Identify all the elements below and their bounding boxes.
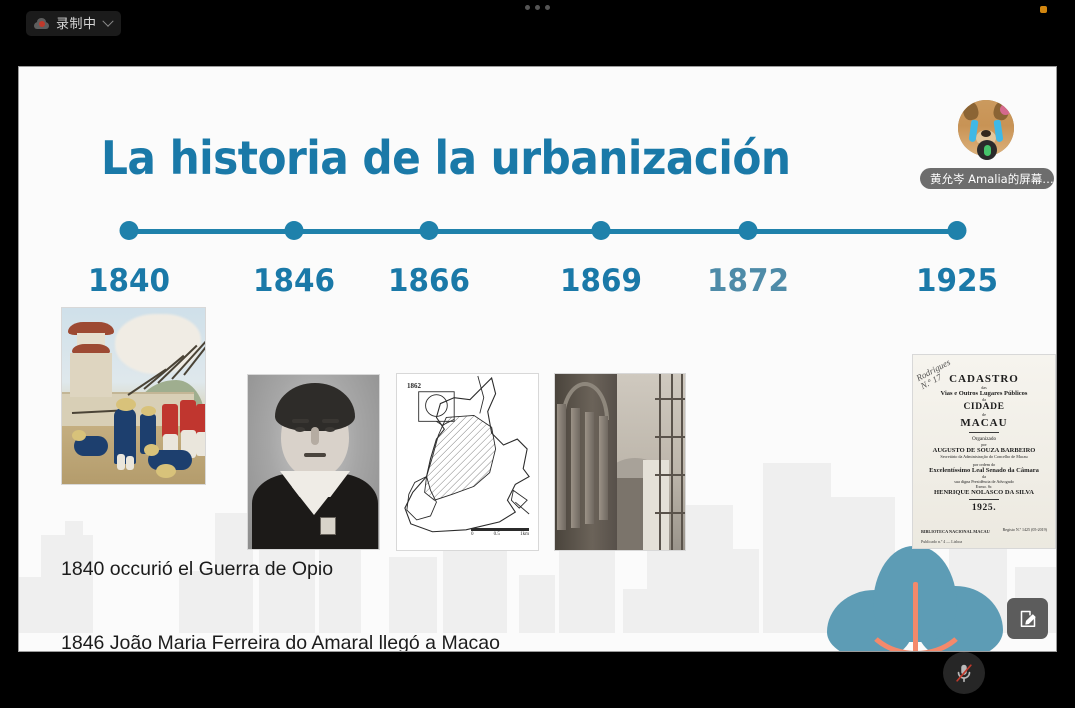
slide-canvas: La historia de la urbanización 1840 1846… bbox=[19, 67, 1056, 651]
doc-president: HENRIQUE NOLASCO DA SILVA bbox=[923, 489, 1045, 496]
timeline bbox=[111, 221, 979, 241]
timeline-dot-1925[interactable] bbox=[948, 221, 967, 240]
doc-library-stamp: BIBLIOTECA NACIONAL MACAU bbox=[921, 529, 990, 534]
shared-screen-slide[interactable]: La historia de la urbanización 1840 1846… bbox=[18, 66, 1057, 652]
page-title: La historia de la urbanización bbox=[101, 131, 790, 185]
more-options-icon[interactable] bbox=[525, 5, 550, 10]
status-dot bbox=[1040, 6, 1047, 13]
doc-city-word: CIDADE bbox=[923, 402, 1045, 412]
doc-year: 1925. bbox=[923, 503, 1045, 513]
body-line-1840: 1840 occurió el Guerra de Opio bbox=[61, 557, 709, 582]
pen-icon bbox=[1018, 609, 1038, 629]
annotate-button[interactable] bbox=[1007, 598, 1048, 639]
microphone-active-icon bbox=[977, 140, 997, 160]
participant-name-label: 黄允岑 Amalia的屏幕… bbox=[920, 168, 1054, 189]
slide-body-text: 1840 occurió el Guerra de Opio 1846 João… bbox=[61, 508, 709, 652]
timeline-dot-1846[interactable] bbox=[285, 221, 304, 240]
recording-indicator[interactable]: 录制中 bbox=[26, 11, 121, 36]
conference-app-root: 录制中 bbox=[0, 0, 1075, 708]
doc-senate: Excelentíssimo Leal Senado da Câmara bbox=[923, 467, 1045, 474]
participant-tile[interactable]: 黄允岑 Amalia的屏幕… bbox=[914, 96, 1060, 192]
timeline-year-1872: 1872 bbox=[707, 263, 789, 299]
opium-war-painting bbox=[61, 307, 206, 485]
timeline-year-1846: 1846 bbox=[253, 263, 335, 299]
chevron-down-icon[interactable] bbox=[102, 15, 113, 26]
cloud-record-icon bbox=[34, 18, 49, 29]
timeline-dot-1872[interactable] bbox=[739, 221, 758, 240]
doc-city: MACAU bbox=[923, 417, 1045, 429]
timeline-dot-1869[interactable] bbox=[592, 221, 611, 240]
microphone-mute-button[interactable] bbox=[943, 652, 985, 694]
doc-footer: Publicado n.º 4 — Lisboa bbox=[921, 539, 962, 544]
timeline-dot-1840[interactable] bbox=[120, 221, 139, 240]
timeline-rail bbox=[129, 229, 961, 234]
doc-author-role: Secretário da Administração do Concelho … bbox=[923, 454, 1045, 459]
timeline-year-1869: 1869 bbox=[560, 263, 642, 299]
doc-reference: Registo N.º 1425 (05-2019) bbox=[1003, 527, 1047, 532]
lotus-decoration bbox=[825, 546, 1005, 652]
timeline-year-1866: 1866 bbox=[388, 263, 470, 299]
timeline-year-1925: 1925 bbox=[916, 263, 998, 299]
cadastro-cover: RodriguesN.º 17 CADASTRO das Vias e Outr… bbox=[912, 354, 1056, 549]
timeline-dot-1866[interactable] bbox=[420, 221, 439, 240]
recording-label: 录制中 bbox=[56, 17, 97, 30]
body-line-1846: 1846 João Maria Ferreira do Amaral llegó… bbox=[61, 631, 709, 652]
doc-author: AUGUSTO DE SOUZA BARBEIRO bbox=[923, 447, 1045, 454]
timeline-year-1840: 1840 bbox=[88, 263, 170, 299]
microphone-muted-icon bbox=[953, 662, 975, 684]
